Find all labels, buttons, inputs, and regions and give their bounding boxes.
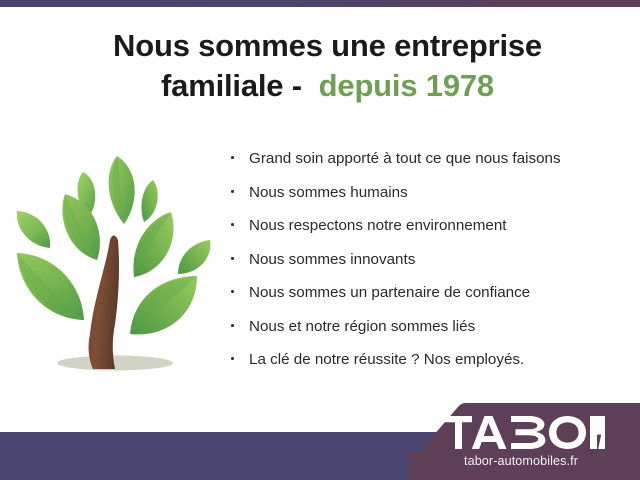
bullet-dot-icon — [231, 156, 234, 159]
tree-leaf — [133, 212, 173, 277]
headline-line-2: familiale - depuis 1978 — [55, 66, 600, 106]
list-item: Nous respectons notre environnement — [228, 215, 628, 236]
list-item-label: Nous sommes humains — [249, 184, 408, 201]
family-tree-illustration — [14, 148, 219, 393]
tree-leaf — [17, 253, 84, 320]
logo-panel-background — [408, 403, 640, 480]
bullet-dot-icon — [231, 223, 234, 226]
bullet-dot-icon — [231, 357, 234, 360]
list-item: Nous et notre région sommes liés — [228, 316, 628, 337]
value-bullet-list: Grand soin apporté à tout ce que nous fa… — [228, 148, 628, 383]
tree-leaf — [178, 240, 210, 274]
list-item-label: Nous sommes un partenaire de confiance — [249, 284, 530, 301]
list-item-label: Nous et notre région sommes liés — [249, 318, 475, 335]
bullet-dot-icon — [231, 190, 234, 193]
list-item: Nous sommes humains — [228, 182, 628, 203]
headline-accent-since-1978: depuis 1978 — [319, 68, 494, 103]
bullet-dot-icon — [231, 290, 234, 293]
list-item: Grand soin apporté à tout ce que nous fa… — [228, 148, 628, 169]
bullet-dot-icon — [231, 324, 234, 327]
brand-logo-panel[interactable]: tabor-automobiles.fr — [408, 403, 640, 480]
list-item-label: Nous respectons notre environnement — [249, 217, 507, 234]
list-item-label: Grand soin apporté à tout ce que nous fa… — [249, 150, 561, 167]
tree-leaf — [17, 211, 50, 248]
list-item: Nous sommes innovants — [228, 249, 628, 270]
list-item-label: La clé de notre réussite ? Nos employés. — [249, 351, 524, 368]
slide-canvas: Nous sommes une entreprise familiale - d… — [0, 0, 640, 480]
tree-leaf — [109, 156, 135, 224]
bullet-dot-icon — [231, 257, 234, 260]
tree-leaf — [130, 276, 197, 334]
headline-line-1: Nous sommes une entreprise — [55, 26, 600, 66]
tree-leaf — [141, 180, 157, 222]
list-item: La clé de notre réussite ? Nos employés. — [228, 349, 628, 370]
tree-ground-shadow — [57, 356, 173, 371]
list-item: Nous sommes un partenaire de confiance — [228, 282, 628, 303]
page-title: Nous sommes une entreprise familiale - d… — [55, 26, 600, 106]
top-accent-bar — [0, 0, 640, 7]
headline-line-2-prefix: familiale - — [161, 68, 302, 103]
list-item-label: Nous sommes innovants — [249, 251, 415, 268]
